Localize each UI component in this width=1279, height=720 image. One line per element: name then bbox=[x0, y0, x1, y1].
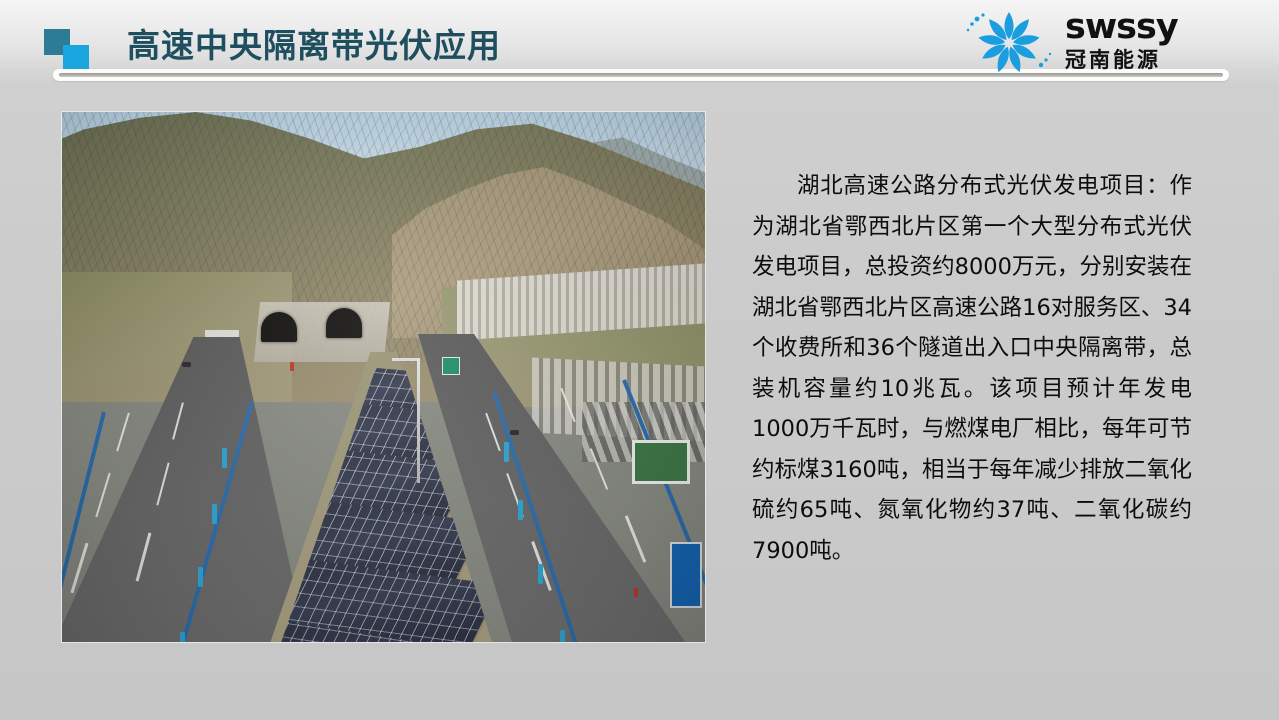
photo-tunnel-portal-left bbox=[261, 312, 297, 342]
page-title: 高速中央隔离带光伏应用 bbox=[127, 19, 501, 67]
photo-lamp-post bbox=[417, 358, 420, 483]
photo-guardrail-post bbox=[504, 442, 509, 462]
photo-traffic-cone bbox=[290, 362, 294, 371]
body-paragraph: 湖北高速公路分布式光伏发电项目：作为湖北省鄂西北片区第一个大型分布式光伏发电项目… bbox=[752, 166, 1192, 571]
photo-guardrail-post bbox=[180, 632, 185, 642]
photo-guardrail-post bbox=[198, 567, 203, 587]
photo-guardrail-post bbox=[560, 630, 565, 642]
photo-traffic-cone bbox=[634, 588, 638, 597]
photo-guardrail-post bbox=[518, 500, 523, 520]
slide-header: 高速中央隔离带光伏应用 bbox=[0, 0, 1279, 88]
header-square-light-icon bbox=[63, 45, 89, 71]
logo-latin-name: swssy bbox=[1065, 9, 1225, 45]
logo-chinese-name: 冠南能源 bbox=[1065, 47, 1225, 73]
water-droplet-flower-emblem-icon bbox=[955, 5, 1063, 79]
photo-lamp-arm bbox=[392, 358, 420, 361]
logo-wordmark: swssy 冠南能源 bbox=[1065, 9, 1225, 73]
presentation-slide: 高速中央隔离带光伏应用 bbox=[0, 0, 1279, 720]
photo-guardrail-post bbox=[538, 564, 543, 584]
project-photo bbox=[62, 112, 705, 642]
photo-lane-marking bbox=[116, 413, 130, 452]
photo-vehicle bbox=[510, 430, 519, 435]
photo-billboard bbox=[632, 440, 690, 484]
company-logo: swssy 冠南能源 bbox=[955, 3, 1225, 81]
photo-lane-marking bbox=[95, 473, 110, 518]
photo-lane-marking bbox=[625, 515, 647, 562]
photo-blue-road-sign bbox=[670, 542, 702, 608]
photo-guardrail-post bbox=[212, 504, 217, 524]
photo-guardrail-post bbox=[222, 448, 227, 468]
photo-tunnel-portal-right bbox=[326, 308, 362, 338]
photo-vehicle bbox=[182, 362, 191, 367]
photo-green-sign bbox=[442, 357, 460, 375]
